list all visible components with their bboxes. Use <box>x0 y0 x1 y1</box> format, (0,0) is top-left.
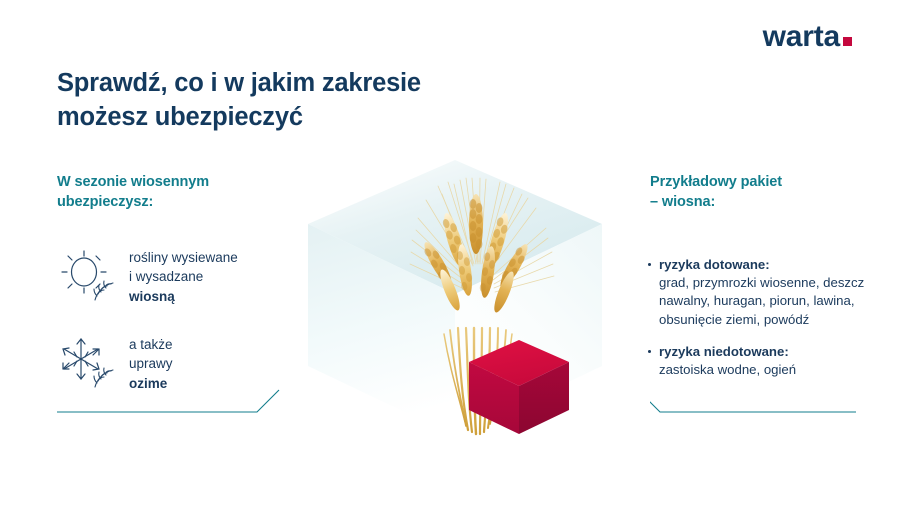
feature-2-line-1: a także <box>129 335 173 354</box>
feature-item-winter-crops: a także uprawy ozime <box>57 335 173 393</box>
left-column: W sezonie wiosennym ubezpieczysz: <box>57 172 307 212</box>
feature-2-line-2-bold: ozime <box>129 376 167 391</box>
bullet-2-body: zastoiska wodne, ogień <box>659 361 878 379</box>
left-section-heading-line-1: W sezonie wiosennym <box>57 172 307 192</box>
logo-wordmark: warta <box>763 20 840 54</box>
isometric-cube-illustration <box>290 148 620 448</box>
bullet-1-body: grad, przymrozki wiosenne, deszcz nawaln… <box>659 274 878 329</box>
right-section-heading-line-2: – wiosna: <box>650 192 870 212</box>
page-title-line-2: możesz ubezpieczyć <box>57 101 421 135</box>
right-section-heading: Przykładowy pakiet – wiosna: <box>650 172 870 212</box>
feature-item-spring-crops-label: rośliny wysiewane i wysadzane wiosną <box>129 248 238 305</box>
feature-1-line-2-bold: wiosną <box>129 289 175 304</box>
list-item: ryzyka niedotowane: zastoiska wodne, ogi… <box>648 343 878 379</box>
page-title: Sprawdź, co i w jakim zakresie możesz ub… <box>57 67 421 134</box>
feature-item-winter-crops-label: a także uprawy ozime <box>129 335 173 392</box>
feature-2-line-2-prefix: uprawy <box>129 354 173 373</box>
sun-with-wheat-icon <box>57 248 123 306</box>
feature-1-line-2-prefix: i wysadzane <box>129 267 238 286</box>
right-column: Przykładowy pakiet – wiosna: <box>650 172 870 212</box>
feature-item-spring-crops: rośliny wysiewane i wysadzane wiosną <box>57 248 238 306</box>
risk-list: ryzyka dotowane: grad, przymrozki wiosen… <box>648 256 878 393</box>
page-title-line-1: Sprawdź, co i w jakim zakresie <box>57 67 421 101</box>
list-item: ryzyka dotowane: grad, przymrozki wiosen… <box>648 256 878 329</box>
feature-1-line-1: rośliny wysiewane <box>129 248 238 267</box>
left-section-heading-line-2: ubezpieczysz: <box>57 192 307 212</box>
logo-dot-icon <box>843 37 852 46</box>
bullet-2-label: ryzyka niedotowane: <box>659 343 878 361</box>
right-section-heading-line-1: Przykładowy pakiet <box>650 172 870 192</box>
feature-1-line-2: i wysadzane wiosną <box>129 267 238 305</box>
left-section-heading: W sezonie wiosennym ubezpieczysz: <box>57 172 307 212</box>
bullet-1-label: ryzyka dotowane: <box>659 256 878 274</box>
snowflake-with-wheat-icon <box>57 335 123 393</box>
feature-2-line-2: uprawy ozime <box>129 354 173 392</box>
brand-logo: warta <box>763 20 852 54</box>
